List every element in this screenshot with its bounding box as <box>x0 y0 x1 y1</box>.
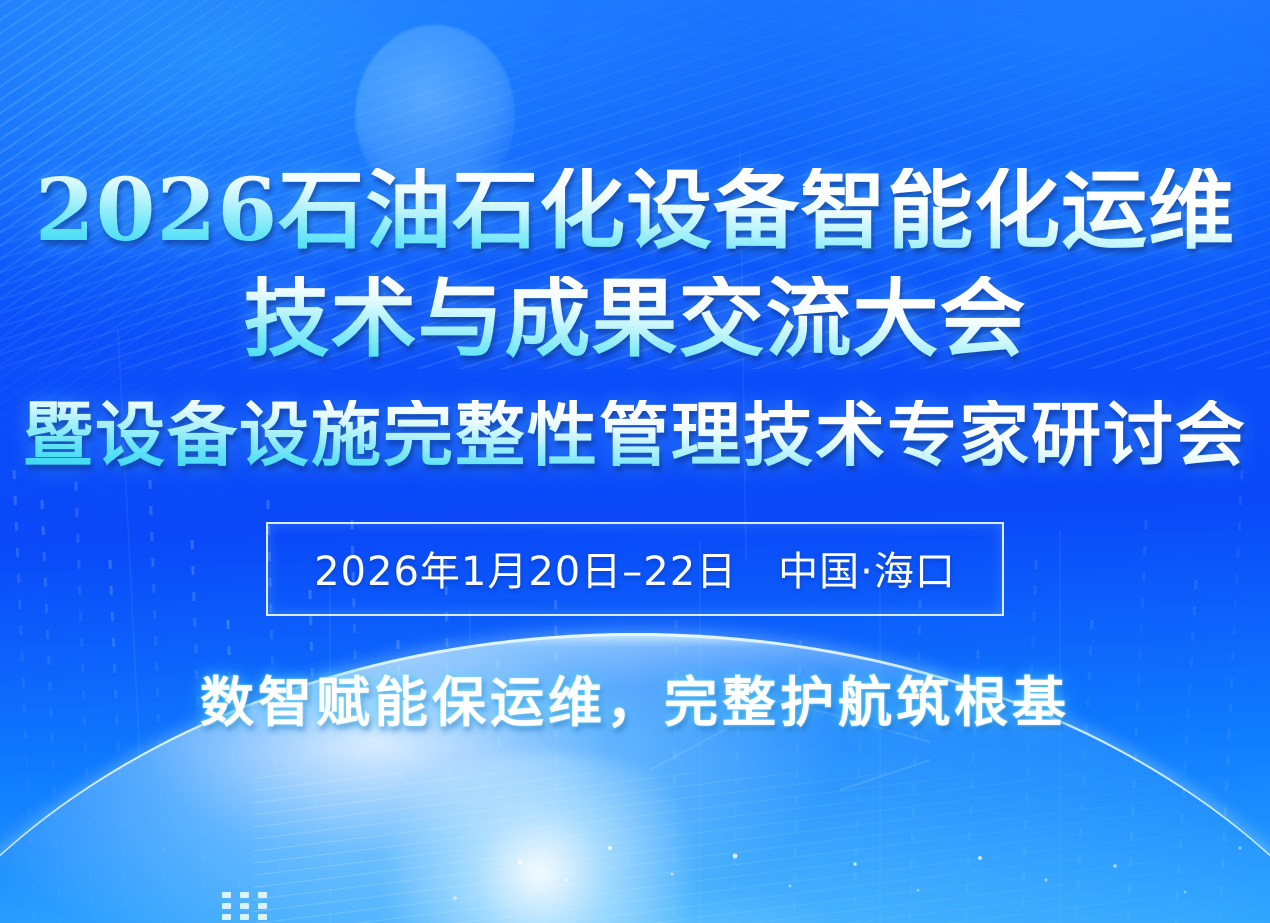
date-location-box: 2026年1月20日–22日 中国·海口 <box>266 522 1004 616</box>
title-block: 2026石油石化设备智能化运维 技术与成果交流大会 暨设备设施完整性管理技术专家… <box>0 0 1270 470</box>
conference-poster: 2026石油石化设备智能化运维 技术与成果交流大会 暨设备设施完整性管理技术专家… <box>0 0 1270 923</box>
title-line-3-subtitle: 暨设备设施完整性管理技术专家研讨会 <box>0 400 1270 470</box>
slogan-text: 数智赋能保运维，完整护航筑根基 <box>200 658 1070 737</box>
title-line-1: 2026石油石化设备智能化运维 <box>0 168 1270 254</box>
poster-content: 2026石油石化设备智能化运维 技术与成果交流大会 暨设备设施完整性管理技术专家… <box>0 0 1270 923</box>
title-line-2: 技术与成果交流大会 <box>0 276 1270 362</box>
date-location-text: 2026年1月20日–22日 中国·海口 <box>314 539 956 597</box>
